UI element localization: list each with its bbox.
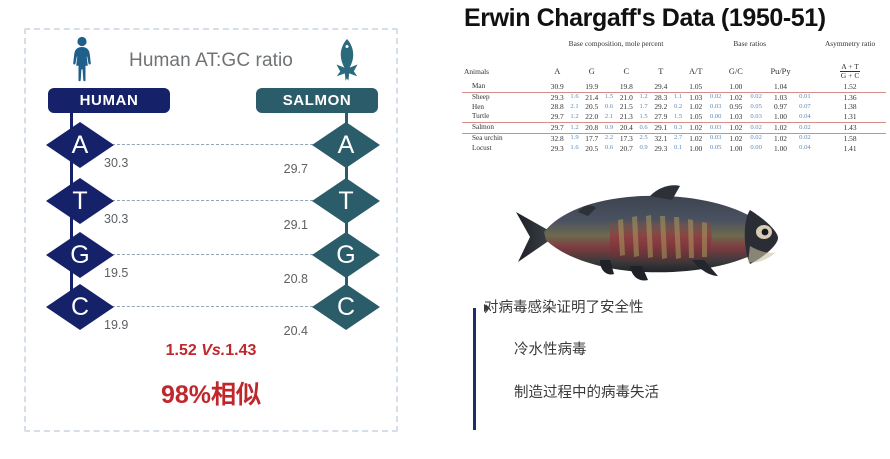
cell-G: 20.8: [582, 123, 602, 134]
cell-A-dev: 1.2: [567, 112, 581, 122]
cell-A-dev: 1.9: [567, 133, 581, 143]
cell-C: 21.3: [616, 112, 636, 122]
cell-PuPy: 0.97: [765, 102, 795, 112]
cell-PuPy: 1.02: [765, 123, 795, 134]
cell-PuPy: 1.00: [765, 112, 795, 122]
column-header-animals: Animals: [462, 55, 547, 82]
column-header-T: T: [651, 55, 671, 82]
ratio-value-human: 1.52: [166, 342, 202, 359]
cell-AT-dev: [706, 82, 725, 92]
cell-C-dev: 1.2: [637, 92, 651, 102]
cell-asymmetry: 1.52: [814, 82, 886, 92]
cell-G: 17.7: [582, 133, 602, 143]
table-row: Salmon 29.71.2 20.80.9 20.40.6 29.10.3 1…: [462, 123, 886, 134]
cell-GC-dev: 0.02: [747, 123, 766, 134]
cell-AT: 1.05: [685, 82, 706, 92]
salmon-base-diamond: C: [312, 284, 380, 330]
cell-G: 21.4: [582, 92, 602, 102]
page-title: Erwin Chargaff's Data (1950-51): [464, 4, 826, 33]
column-header-G: G: [582, 55, 602, 82]
cell-A-dev: 1.6: [567, 92, 581, 102]
list-item: 冷水性病毒: [470, 342, 870, 359]
cell-PuPy: 1.02: [765, 133, 795, 143]
cell-A: 29.7: [547, 112, 567, 122]
cell-T-dev: 0.1: [671, 144, 685, 154]
cell-AT: 1.05: [685, 112, 706, 122]
cell-C: 21.5: [616, 102, 636, 112]
connector-line: [112, 200, 318, 201]
spacer-cell: [462, 40, 547, 55]
row-animal-name: Turtle: [462, 112, 547, 122]
cell-GC: 1.00: [725, 144, 747, 154]
cell-G-dev: [602, 82, 616, 92]
cell-G-dev: 2.2: [602, 133, 616, 143]
human-base-value: 19.5: [104, 266, 128, 280]
cell-asymmetry: 1.58: [814, 133, 886, 143]
cell-G: 19.9: [582, 82, 602, 92]
cell-PuPy: 1.04: [765, 82, 795, 92]
cell-asymmetry: 1.38: [814, 102, 886, 112]
list-item-label: 制造过程中的病毒失活: [514, 385, 659, 401]
cell-A-dev: 2.1: [567, 102, 581, 112]
table-group-header-row: Base composition, mole percent Base rati…: [462, 40, 886, 55]
human-base-value: 30.3: [104, 212, 128, 226]
list-item: 制造过程中的病毒失活: [470, 385, 870, 402]
cell-T: 29.2: [651, 102, 671, 112]
table-row: Sheep 29.31.6 21.41.5 21.01.2 28.31.1 1.…: [462, 92, 886, 102]
cell-PuPy: 1.03: [765, 92, 795, 102]
cell-C-dev: 0.6: [637, 123, 651, 134]
cell-PuPy-dev: 0.01: [796, 92, 815, 102]
row-animal-name: Sheep: [462, 92, 547, 102]
cell-G-dev: 0.9: [602, 123, 616, 134]
connector-line: [112, 144, 318, 145]
cell-C: 20.7: [616, 144, 636, 154]
cell-C-dev: [637, 82, 651, 92]
cell-C-dev: 1.5: [637, 112, 651, 122]
column-header-A: A: [547, 55, 567, 82]
cell-GC: 0.95: [725, 102, 747, 112]
cell-T-dev: 1.5: [671, 112, 685, 122]
cell-T: 29.1: [651, 123, 671, 134]
cell-C: 17.3: [616, 133, 636, 143]
group-header-base-ratios: Base ratios: [685, 40, 814, 55]
cell-A-dev: [567, 82, 581, 92]
cell-T: 27.9: [651, 112, 671, 122]
salmon-label-pill: SALMON: [256, 88, 378, 113]
cell-AT-dev: 0.03: [706, 102, 725, 112]
cell-C: 20.4: [616, 123, 636, 134]
cell-T-dev: 0.3: [671, 123, 685, 134]
human-base-value: 30.3: [104, 156, 128, 170]
asymmetry-denominator: G + C: [840, 72, 861, 80]
cell-GC-dev: 0.05: [747, 102, 766, 112]
cell-AT: 1.02: [685, 123, 706, 134]
cell-GC: 1.02: [725, 92, 747, 102]
cell-C-dev: 2.5: [637, 133, 651, 143]
salmon-base-value: 29.7: [284, 162, 308, 176]
cell-PuPy-dev: 0.04: [796, 112, 815, 122]
cell-A-dev: 1.2: [567, 123, 581, 134]
cell-T: 29.3: [651, 144, 671, 154]
cell-T: 28.3: [651, 92, 671, 102]
column-header-asymmetry-ratio: A + T G + C: [814, 55, 886, 82]
salmon-base-diamond: A: [312, 122, 380, 168]
ratio-value-salmon: 1.43: [225, 342, 256, 359]
list-item-label: 冷水性病毒: [514, 342, 587, 358]
group-header-asymmetry: Asymmetry ratio: [814, 40, 886, 55]
table-row: Turtle 29.71.2 22.02.1 21.31.5 27.91.5 1…: [462, 112, 886, 122]
cell-G-dev: 0.6: [602, 102, 616, 112]
cell-G: 20.5: [582, 102, 602, 112]
cell-GC-dev: 0.02: [747, 133, 766, 143]
cell-T: 29.4: [651, 82, 671, 92]
column-header-GC: G/C: [725, 55, 747, 82]
human-salmon-comparison-panel: Human AT:GC ratio HUMAN SALMON A 30.3 A …: [24, 28, 398, 432]
cell-PuPy: 1.00: [765, 144, 795, 154]
column-header-AT: A/T: [685, 55, 706, 82]
cell-T-dev: 0.2: [671, 102, 685, 112]
cell-GC-dev: 0.03: [747, 112, 766, 122]
cell-A-dev: 1.6: [567, 144, 581, 154]
cell-AT: 1.00: [685, 144, 706, 154]
table-row: Sea urchin 32.81.9 17.72.2 17.32.5 32.12…: [462, 133, 886, 143]
chargaff-panel: Erwin Chargaff's Data (1950-51) Base com…: [452, 0, 890, 459]
row-animal-name: Man: [462, 82, 547, 92]
cell-C-dev: 1.7: [637, 102, 651, 112]
cell-PuPy-dev: [796, 82, 815, 92]
salmon-base-diamond: T: [312, 178, 380, 224]
salmon-base-value: 20.4: [284, 324, 308, 338]
human-label-pill: HUMAN: [48, 88, 170, 113]
cell-C: 21.0: [616, 92, 636, 102]
base-row: G 19.5 G 20.8: [46, 232, 380, 288]
asymmetry-fraction: A + T G + C: [840, 63, 861, 80]
cell-G-dev: 0.6: [602, 144, 616, 154]
cell-T-dev: 2.7: [671, 133, 685, 143]
cell-A: 29.7: [547, 123, 567, 134]
cell-T: 32.1: [651, 133, 671, 143]
triangle-bullet-icon: [484, 304, 490, 312]
cell-GC: 1.03: [725, 112, 747, 122]
table-column-header-row: Animals A G C T A/T G/C Pu/Py A + T G + …: [462, 55, 886, 82]
base-row: A 30.3 A 29.7: [46, 122, 380, 178]
cell-AT: 1.02: [685, 133, 706, 143]
cell-T-dev: 1.1: [671, 92, 685, 102]
cell-A: 32.8: [547, 133, 567, 143]
cell-GC-dev: [747, 82, 766, 92]
table-row: Man 30.9 19.9 19.8 29.4 1.05 1.00 1.04 1…: [462, 82, 886, 92]
cell-GC: 1.00: [725, 82, 747, 92]
row-animal-name: Hen: [462, 102, 547, 112]
cell-PuPy-dev: 0.07: [796, 102, 815, 112]
cell-asymmetry: 1.36: [814, 92, 886, 102]
salmon-base-diamond: G: [312, 232, 380, 278]
cell-A: 28.8: [547, 102, 567, 112]
bullet-vertical-rule: [473, 308, 476, 430]
cell-C-dev: 0.9: [637, 144, 651, 154]
base-row: C 19.9 C 20.4: [46, 284, 380, 340]
cell-PuPy-dev: 0.04: [796, 144, 815, 154]
cell-GC-dev: 0.02: [747, 92, 766, 102]
cell-GC-dev: 0.00: [747, 144, 766, 154]
salmon-base-value: 29.1: [284, 218, 308, 232]
column-header-C: C: [616, 55, 636, 82]
cell-asymmetry: 1.41: [814, 144, 886, 154]
bullet-list: 对病毒感染证明了安全性 冷水性病毒 制造过程中的病毒失活: [470, 300, 870, 427]
cell-C: 19.8: [616, 82, 636, 92]
cell-AT: 1.03: [685, 92, 706, 102]
cell-G: 20.5: [582, 144, 602, 154]
list-item: 对病毒感染证明了安全性: [470, 300, 870, 317]
fish-silhouette-icon: [334, 38, 360, 87]
chargaff-data-table: Base composition, mole percent Base rati…: [462, 40, 886, 153]
cell-G: 22.0: [582, 112, 602, 122]
cell-AT-dev: 0.03: [706, 133, 725, 143]
cell-GC: 1.02: [725, 123, 747, 134]
cell-AT-dev: 0.03: [706, 123, 725, 134]
cell-AT-dev: 0.02: [706, 92, 725, 102]
human-base-value: 19.9: [104, 318, 128, 332]
ratio-comparison: 1.52 Vs.1.43: [26, 342, 396, 360]
group-header-base-composition: Base composition, mole percent: [547, 40, 685, 55]
cell-GC: 1.02: [725, 133, 747, 143]
cell-T-dev: [671, 82, 685, 92]
cell-AT-dev: 0.00: [706, 112, 725, 122]
column-header-PuPy: Pu/Py: [765, 55, 795, 82]
cell-A: 29.3: [547, 144, 567, 154]
salmon-fish-photo: [514, 182, 782, 286]
chargaff-data-table-wrapper: Base composition, mole percent Base rati…: [462, 40, 886, 170]
row-animal-name: Salmon: [462, 123, 547, 134]
cell-AT-dev: 0.05: [706, 144, 725, 154]
cell-A: 30.9: [547, 82, 567, 92]
row-animal-name: Sea urchin: [462, 133, 547, 143]
row-animal-name: Locust: [462, 144, 547, 154]
ratio-header: Human AT:GC ratio: [26, 36, 396, 82]
cell-PuPy-dev: 0.02: [796, 133, 815, 143]
cell-G-dev: 1.5: [602, 92, 616, 102]
cell-asymmetry: 1.31: [814, 112, 886, 122]
base-row: T 30.3 T 29.1: [46, 178, 380, 234]
cell-AT: 1.02: [685, 102, 706, 112]
cell-A: 29.3: [547, 92, 567, 102]
vs-label: Vs.: [201, 342, 225, 359]
list-item-label: 对病毒感染证明了安全性: [484, 300, 644, 316]
connector-line: [112, 306, 318, 307]
cell-asymmetry: 1.43: [814, 123, 886, 134]
cell-G-dev: 2.1: [602, 112, 616, 122]
cell-PuPy-dev: 0.02: [796, 123, 815, 134]
table-row: Hen 28.82.1 20.50.6 21.51.7 29.20.2 1.02…: [462, 102, 886, 112]
similarity-statement: 98%相似: [26, 375, 396, 411]
connector-line: [112, 254, 318, 255]
table-row: Locust 29.31.6 20.50.6 20.70.9 29.30.1 1…: [462, 144, 886, 154]
